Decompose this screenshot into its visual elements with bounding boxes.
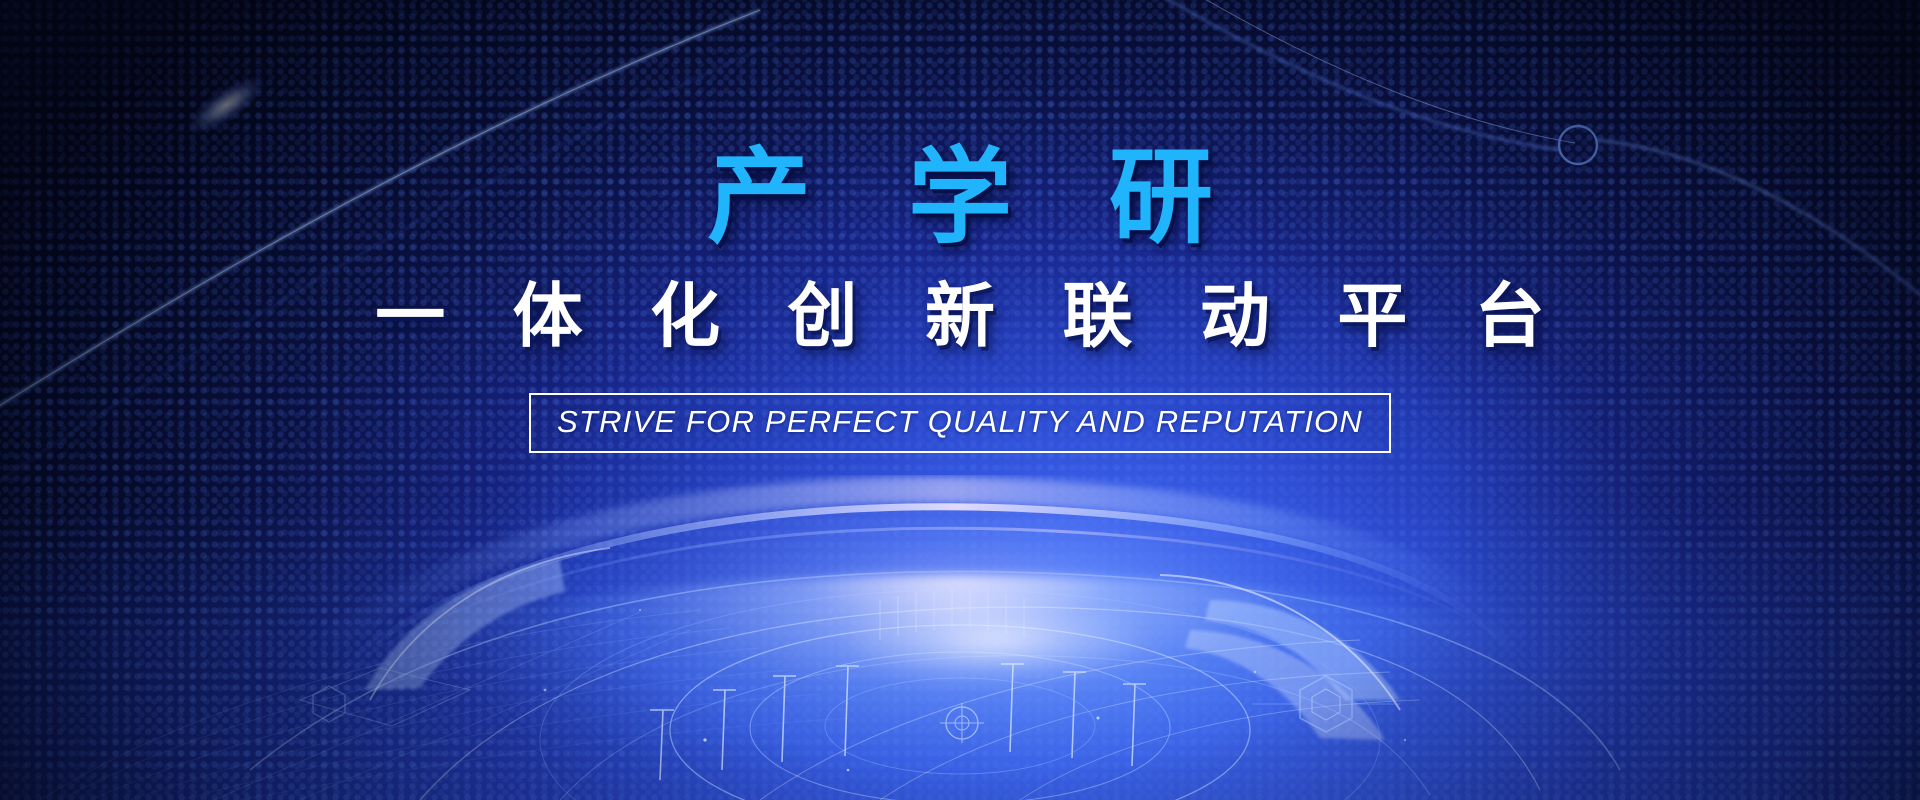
globe-core-glow <box>845 600 1145 680</box>
hero-banner: 产 学 研 一 体 化 创 新 联 动 平 台 STRIVE FOR PERFE… <box>0 0 1920 800</box>
page-title-secondary: 一 体 化 创 新 联 动 平 台 <box>0 276 1920 357</box>
subtitle-box: STRIVE FOR PERFECT QUALITY AND REPUTATIO… <box>529 393 1391 453</box>
arc-node-highlight <box>179 66 273 144</box>
page-title-primary: 产 学 研 <box>0 140 1920 256</box>
headline-block: 产 学 研 一 体 化 创 新 联 动 平 台 STRIVE FOR PERFE… <box>0 140 1920 453</box>
subtitle-text: STRIVE FOR PERFECT QUALITY AND REPUTATIO… <box>557 404 1363 440</box>
